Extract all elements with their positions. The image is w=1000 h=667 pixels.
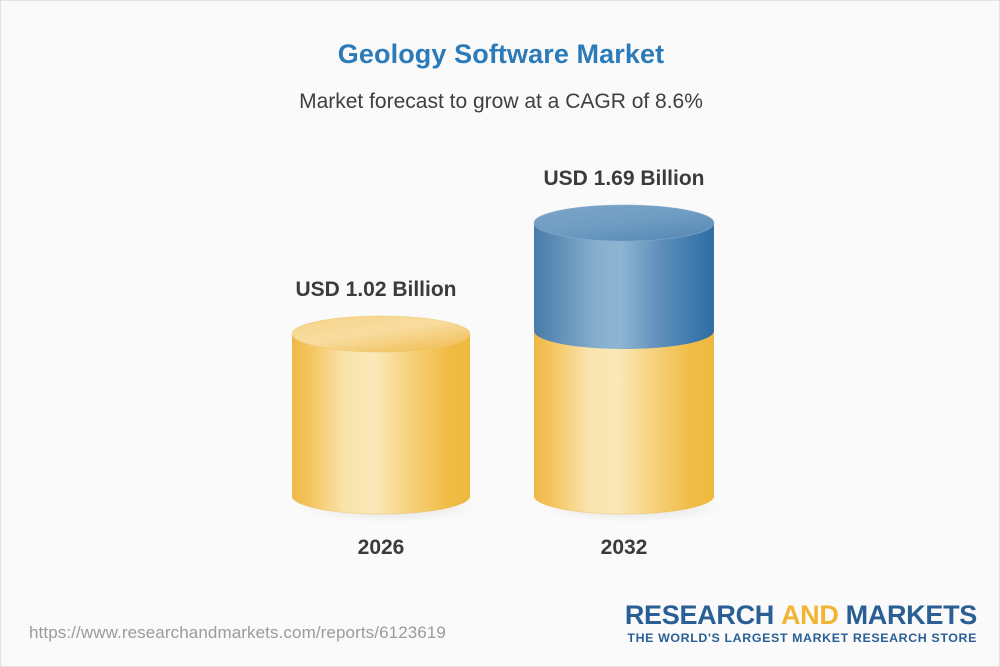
logo-wordmark: RESEARCHANDMARKETS (625, 601, 977, 629)
research-and-markets-logo[interactable]: RESEARCHANDMARKETS THE WORLD'S LARGEST M… (625, 601, 977, 646)
logo-word-and: AND (781, 600, 839, 630)
bar-group-2032: USD 1.69 Billion (1, 1, 1000, 601)
chart-canvas: Geology Software Market Market forecast … (0, 0, 1000, 667)
category-label-2032: 2032 (524, 536, 724, 560)
source-url[interactable]: https://www.researchandmarkets.com/repor… (29, 623, 446, 643)
logo-word-markets: MARKETS (846, 600, 977, 630)
logo-tagline: THE WORLD'S LARGEST MARKET RESEARCH STOR… (625, 631, 977, 646)
logo-word-research: RESEARCH (625, 600, 774, 630)
value-label-2032: USD 1.69 Billion (524, 167, 724, 191)
plot-area: USD 1.02 Billion (1, 1, 1000, 601)
bar-cylinder-2032[interactable] (533, 205, 723, 523)
